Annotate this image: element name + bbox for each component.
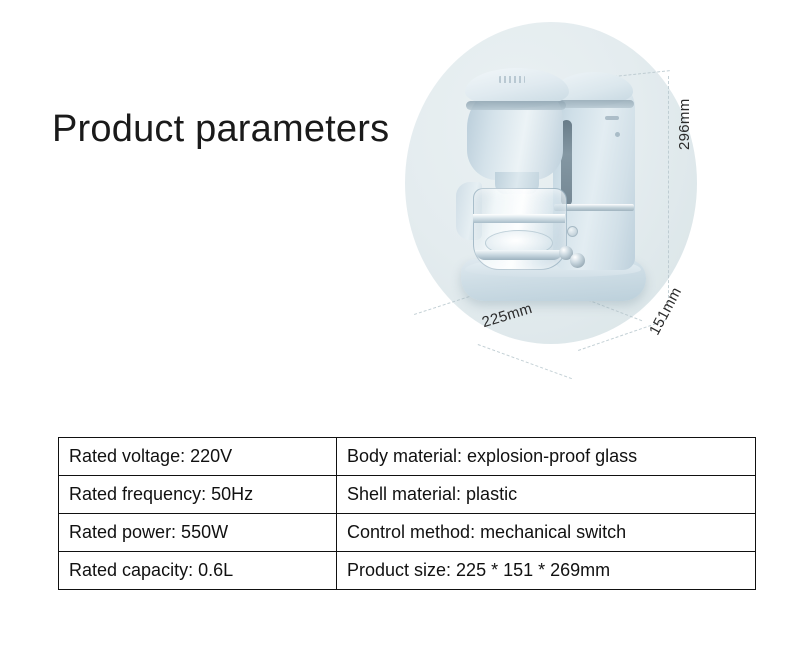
- page-title: Product parameters: [52, 107, 389, 151]
- table-row: Rated capacity: 0.6L Product size: 225 *…: [59, 552, 756, 590]
- lid-texture-marks: [499, 76, 525, 83]
- dimension-label-height: 296mm: [676, 98, 693, 150]
- coffee-maker-illustration: [455, 54, 655, 304]
- spec-cell-right: Product size: 225 * 151 * 269mm: [337, 552, 756, 590]
- tank-vent-slot: [605, 116, 619, 120]
- spec-cell-left: Rated frequency: 50Hz: [59, 476, 337, 514]
- table-row: Rated frequency: 50Hz Shell material: pl…: [59, 476, 756, 514]
- table-row: Rated voltage: 220V Body material: explo…: [59, 438, 756, 476]
- mechanical-switch-knob: [559, 246, 589, 268]
- filter-lid-seam: [466, 101, 566, 110]
- power-indicator-light: [615, 132, 620, 137]
- spec-cell-left: Rated voltage: 220V: [59, 438, 337, 476]
- carafe-lower-chrome-band: [475, 250, 563, 260]
- water-tank-lid-seam: [554, 100, 634, 108]
- height-guide-line: [668, 76, 669, 308]
- table-row: Rated power: 550W Control method: mechan…: [59, 514, 756, 552]
- spec-cell-right: Shell material: plastic: [337, 476, 756, 514]
- floor-guide-front-left: [478, 344, 572, 379]
- specification-table: Rated voltage: 220V Body material: explo…: [58, 437, 756, 590]
- spec-cell-right: Control method: mechanical switch: [337, 514, 756, 552]
- tank-button: [567, 226, 578, 237]
- carafe-upper-chrome-band: [473, 214, 565, 223]
- spec-cell-right: Body material: explosion-proof glass: [337, 438, 756, 476]
- spec-cell-left: Rated capacity: 0.6L: [59, 552, 337, 590]
- spec-cell-left: Rated power: 550W: [59, 514, 337, 552]
